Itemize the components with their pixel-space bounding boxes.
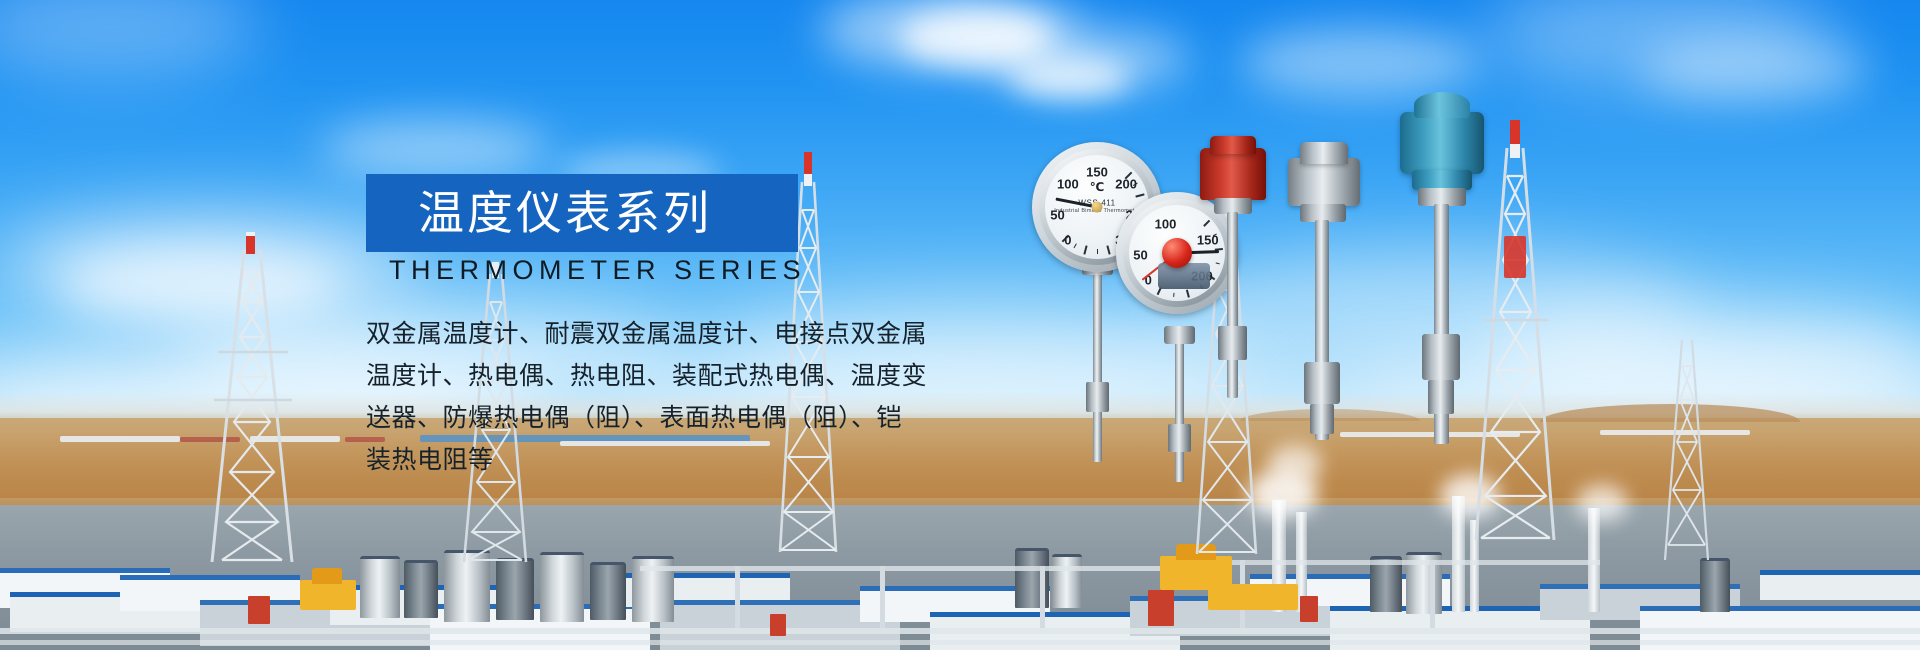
title-banner: 温度仪表系列 [366,174,798,252]
page-title: 温度仪表系列 [418,190,712,236]
silver-head-housing [1288,158,1360,206]
description-line-4: 装热电阻等 [366,439,1006,481]
lattice-tower-right [1460,120,1570,540]
banner-hero: ℃ WSS-411 Industrial Bimetal Thermometer… [0,0,1920,650]
description-line-3: 送器、防爆热电偶（阻）、表面热电偶（阻）、铠 [366,397,1006,439]
gauge-tick-150: 150 [1086,164,1108,179]
lattice-tower-far-right [1656,330,1716,560]
contact-adjust-knob[interactable] [1162,238,1192,268]
blue-housing-body [1400,112,1484,174]
gauge-tick-50: 50 [1050,208,1064,223]
gauge-tick-0: 0 [1064,233,1071,248]
gauge-unit-label: ℃ [1090,180,1105,194]
product-description: 双金属温度计、耐震双金属温度计、电接点双金属 温度计、热电偶、热电阻、装配式热电… [366,313,1006,481]
blue-housing-cover [1414,92,1470,118]
contact-tick-100: 100 [1155,217,1177,232]
red-head-housing [1200,148,1266,200]
contact-mechanism [1158,263,1210,289]
page-subtitle: THERMOMETER SERIES [389,255,806,286]
gauge-tick-200: 200 [1115,177,1137,192]
contact-tick-50: 50 [1133,247,1147,262]
gauge-hub [1092,202,1103,213]
contact-tick-150: 150 [1197,232,1219,247]
description-line-2: 温度计、热电偶、热电阻、装配式热电偶、温度变 [366,355,1006,397]
lattice-tower-left [196,232,308,562]
description-line-1: 双金属温度计、耐震双金属温度计、电接点双金属 [366,313,1006,355]
gauge-tick-100: 100 [1057,177,1079,192]
red-head-cap [1210,136,1256,154]
blue-housing-neck [1412,170,1472,190]
silver-head-cap [1300,142,1348,164]
